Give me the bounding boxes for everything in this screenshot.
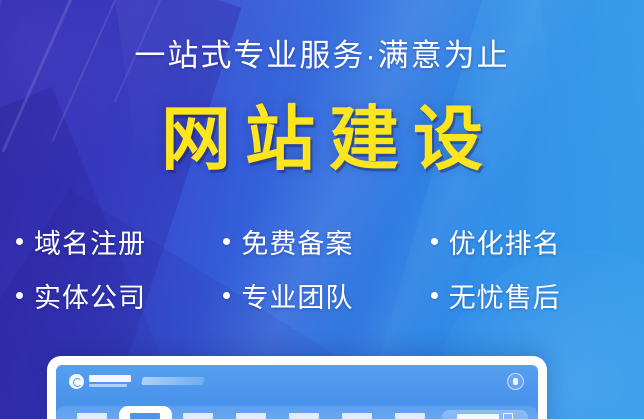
- mockup-logo-text: [89, 375, 131, 387]
- bullet-dot-icon: [431, 238, 438, 245]
- mockup-logo-tagline: [89, 384, 127, 387]
- laptop-mockup: [47, 356, 547, 419]
- bullet-dot-icon: [431, 292, 438, 299]
- mockup-nav-item[interactable]: [66, 406, 119, 419]
- bullet-dot-icon: [16, 238, 23, 245]
- mockup-nav-item[interactable]: [172, 406, 225, 419]
- banner-main-title: 网站建设: [0, 96, 644, 182]
- mockup-site-header: [56, 365, 538, 397]
- mockup-nav-item-active[interactable]: [119, 406, 172, 419]
- mockup-slogan: [141, 377, 205, 385]
- feature-label: 优化排名: [449, 222, 561, 261]
- bullet-dot-icon: [16, 292, 23, 299]
- circular-logo-icon: [69, 374, 84, 389]
- feature-item: 无忧售后: [431, 268, 638, 322]
- mockup-site-nav: [56, 406, 538, 419]
- feature-item: 免费备案: [223, 214, 430, 268]
- feature-list: 域名注册 免费备案 优化排名 实体公司 专业团队 无忧售后: [16, 214, 638, 322]
- feature-label: 免费备案: [241, 222, 353, 261]
- mockup-nav-cta-button[interactable]: [442, 410, 528, 419]
- feature-item: 专业团队: [223, 268, 430, 322]
- banner-subtitle: 一站式专业服务·满意为止: [0, 36, 644, 76]
- bullet-dot-icon: [223, 292, 230, 299]
- feature-item: 实体公司: [16, 268, 223, 322]
- mockup-nav-item[interactable]: [330, 406, 383, 419]
- laptop-screen: [56, 365, 538, 419]
- feature-item: 域名注册: [16, 214, 223, 268]
- feature-label: 实体公司: [34, 276, 146, 315]
- user-avatar-icon[interactable]: [507, 373, 524, 390]
- mockup-logo-name: [89, 375, 131, 382]
- mockup-nav-item[interactable]: [225, 406, 278, 419]
- feature-label: 域名注册: [34, 222, 146, 261]
- feature-label: 专业团队: [241, 276, 353, 315]
- chat-bubble-icon: [503, 413, 513, 419]
- promo-banner: 一站式专业服务·满意为止 网站建设 域名注册 免费备案 优化排名 实体公司 专业…: [0, 0, 644, 419]
- feature-item: 优化排名: [431, 214, 638, 268]
- mockup-site-logo: [69, 374, 131, 389]
- mockup-nav-item[interactable]: [277, 406, 330, 419]
- feature-label: 无忧售后: [449, 276, 561, 315]
- mockup-nav-item[interactable]: [383, 406, 436, 419]
- bullet-dot-icon: [223, 238, 230, 245]
